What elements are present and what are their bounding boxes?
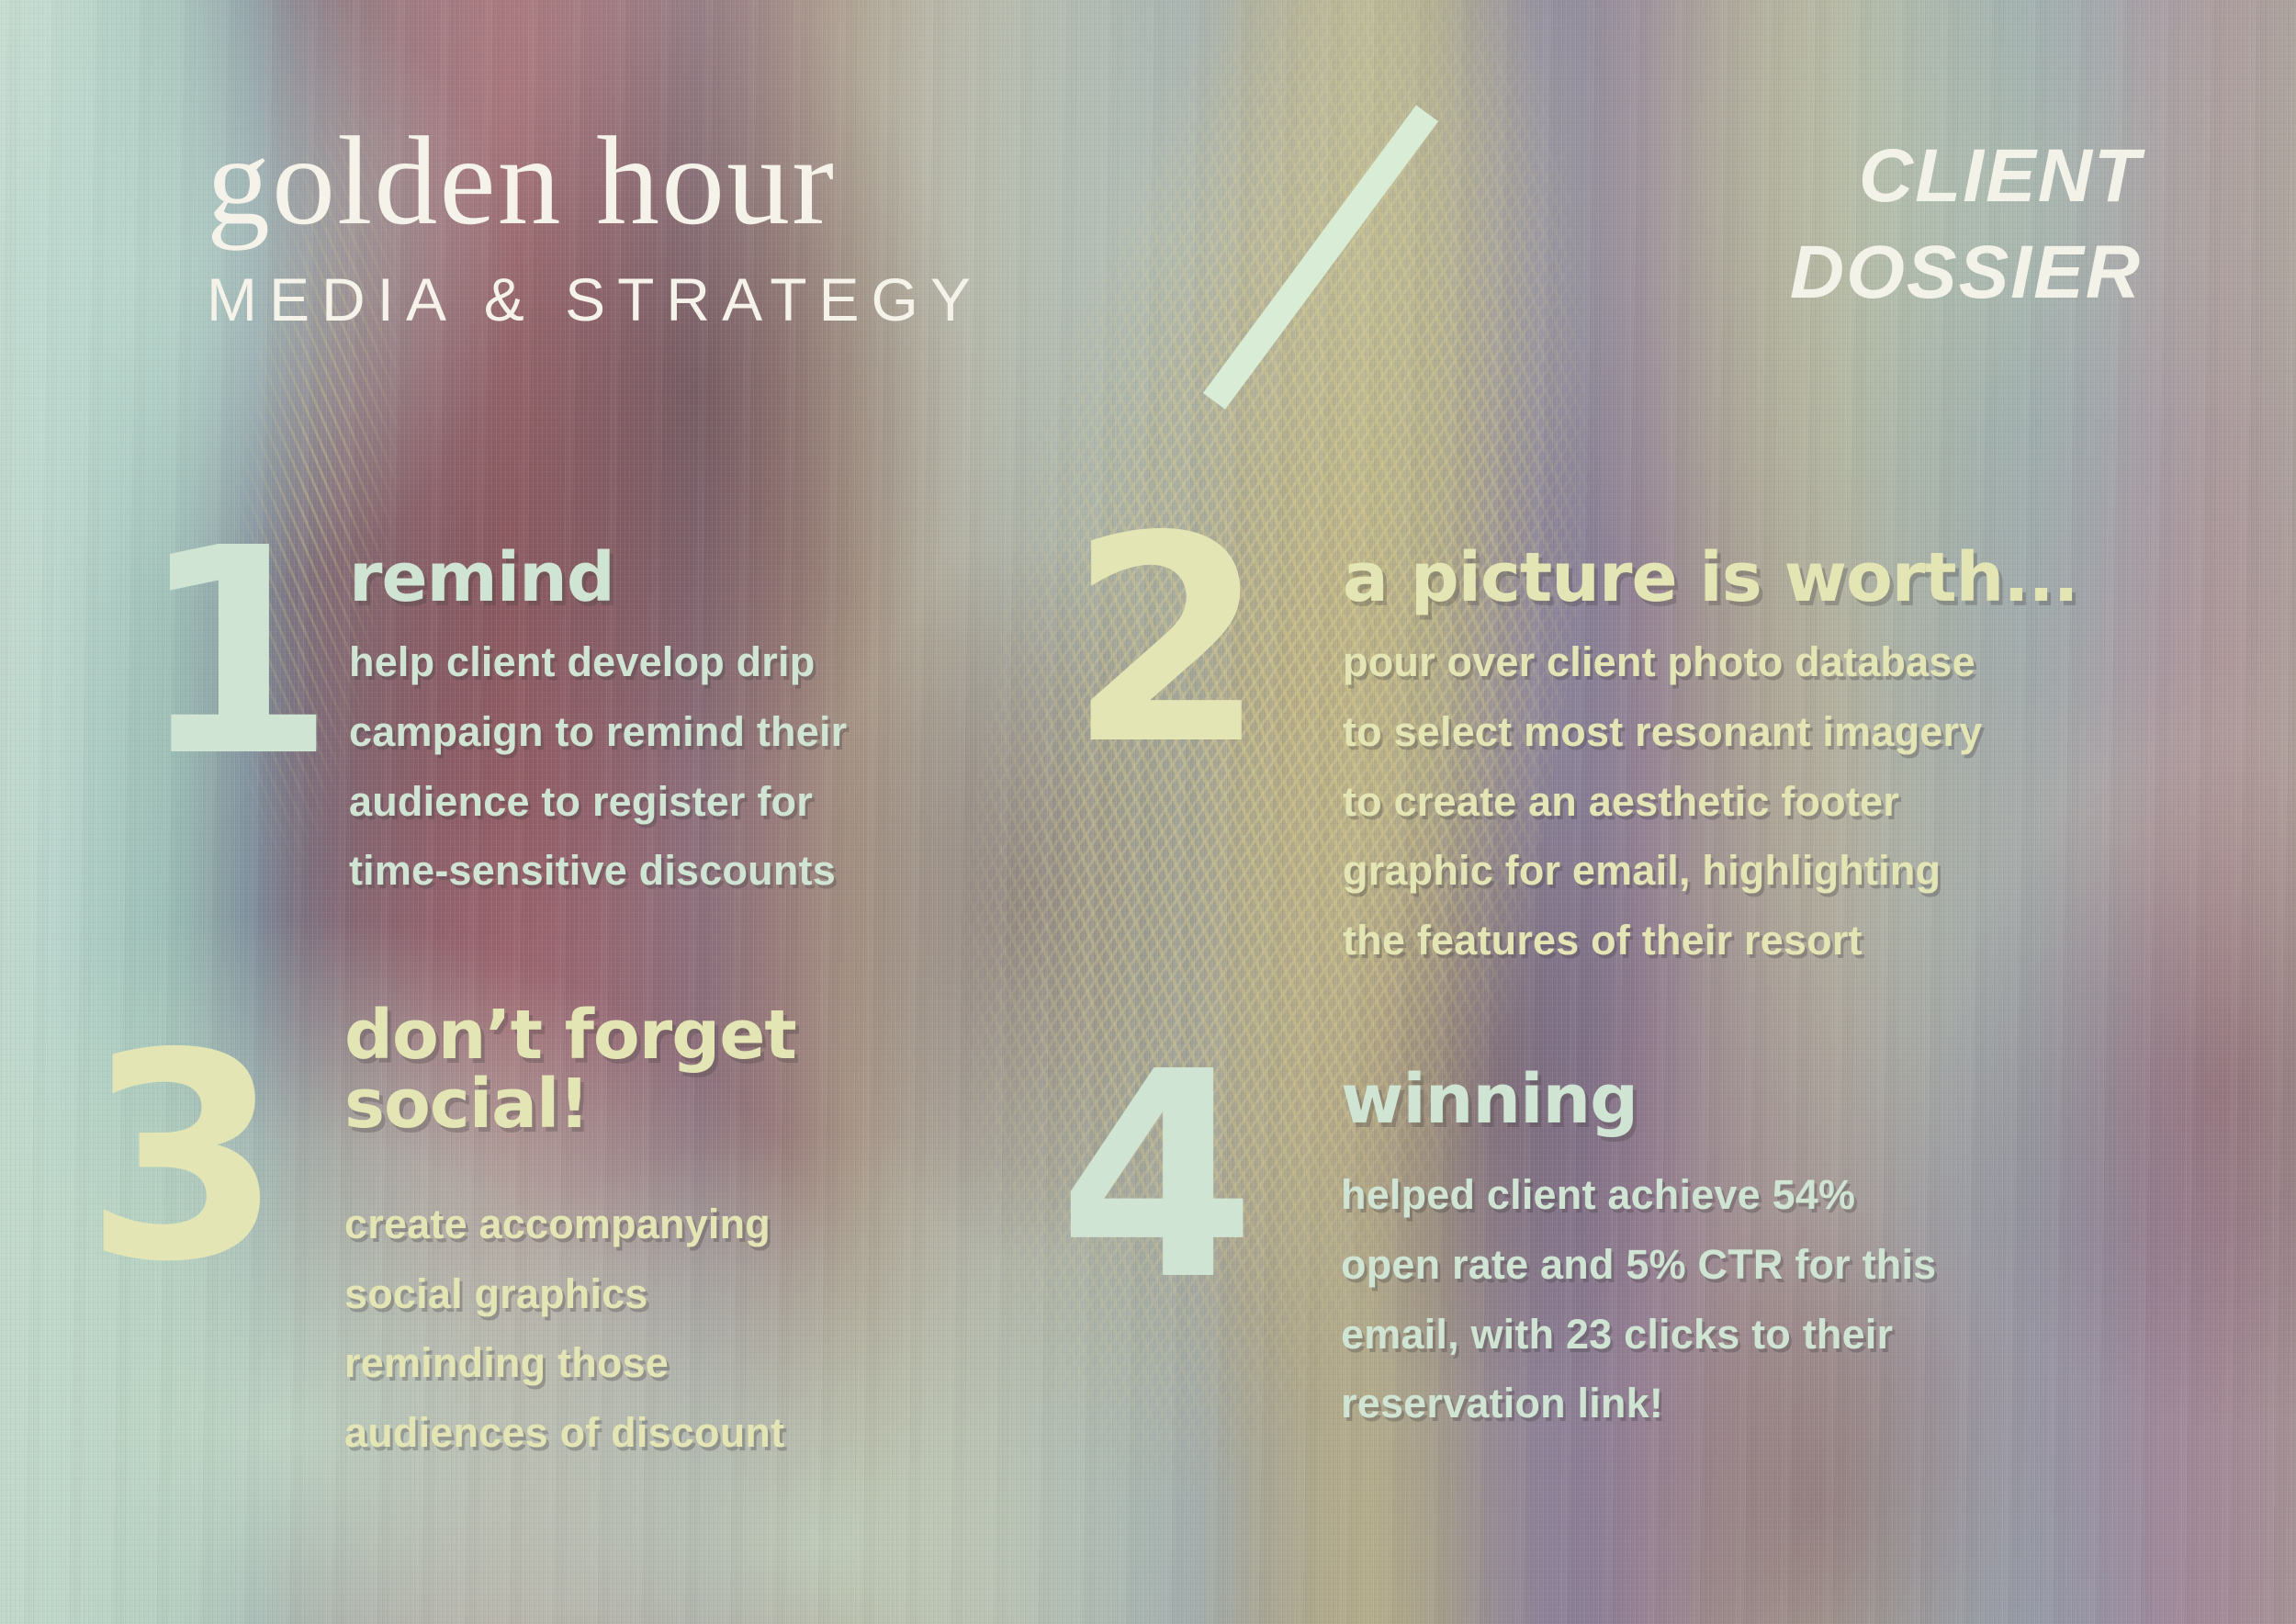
section-1-body: remind help client develop drip campaign… bbox=[349, 544, 847, 906]
section-2-number: 2 bbox=[1068, 525, 1263, 759]
section-2-line-4: graphic for email, highlighting bbox=[1343, 836, 2078, 906]
page-title-line-2: DOSSIER bbox=[1790, 225, 2142, 321]
section-4-line-2: open rate and 5% CTR for this bbox=[1341, 1230, 1936, 1300]
section-3-body: don’t forget social! create accompanying… bbox=[344, 1001, 796, 1467]
section-3-heading-line-1: don’t forget bbox=[344, 1001, 796, 1070]
section-2-line-3: to create an aesthetic footer bbox=[1343, 767, 2078, 837]
section-1-number: 1 bbox=[138, 537, 332, 771]
section-2-line-1: pour over client photo database bbox=[1343, 627, 2078, 697]
section-4-line-3: email, with 23 clicks to their bbox=[1341, 1300, 1936, 1370]
section-4-number: 4 bbox=[1058, 1061, 1253, 1294]
section-4-heading: winning bbox=[1341, 1066, 1936, 1134]
poster-content: golden hour MEDIA & STRATEGY CLIENT DOSS… bbox=[0, 0, 2296, 1624]
section-1-heading: remind bbox=[349, 544, 847, 613]
section-3-line-3: reminding those bbox=[344, 1328, 796, 1398]
diagonal-slash-icon bbox=[1203, 105, 1438, 409]
section-1-lines: help client develop drip campaign to rem… bbox=[349, 627, 847, 905]
section-1-line-1: help client develop drip bbox=[349, 627, 847, 697]
section-2-line-5: the features of their resort bbox=[1343, 906, 2078, 976]
section-1-line-4: time-sensitive discounts bbox=[349, 836, 847, 906]
section-3-line-4: audiences of discount bbox=[344, 1398, 796, 1468]
section-2-body: a picture is worth... pour over client p… bbox=[1343, 544, 2078, 975]
section-4-line-1: helped client achieve 54% bbox=[1341, 1160, 1936, 1230]
section-4-body: winning helped client achieve 54% open r… bbox=[1341, 1066, 1936, 1438]
section-2-lines: pour over client photo database to selec… bbox=[1343, 627, 2078, 975]
section-3-line-2: social graphics bbox=[344, 1259, 796, 1329]
section-3-line-1: create accompanying bbox=[344, 1190, 796, 1259]
section-3-heading-line-2: social! bbox=[344, 1070, 796, 1139]
section-3-lines: create accompanying social graphics remi… bbox=[344, 1190, 796, 1467]
section-2-line-2: to select most resonant imagery bbox=[1343, 697, 2078, 767]
brand-name: golden hour bbox=[207, 118, 1079, 244]
section-1-line-3: audience to register for bbox=[349, 767, 847, 837]
page-title: CLIENT DOSSIER bbox=[1790, 129, 2142, 321]
page-title-line-1: CLIENT bbox=[1790, 129, 2142, 225]
section-4-lines: helped client achieve 54% open rate and … bbox=[1341, 1160, 1936, 1438]
section-3-number: 3 bbox=[84, 1043, 279, 1276]
section-1-line-2: campaign to remind their bbox=[349, 697, 847, 767]
section-4-line-4: reservation link! bbox=[1341, 1369, 1936, 1438]
brand-logo: golden hour MEDIA & STRATEGY bbox=[207, 118, 1079, 334]
brand-tagline: MEDIA & STRATEGY bbox=[207, 265, 1079, 334]
poster-canvas: golden hour MEDIA & STRATEGY CLIENT DOSS… bbox=[0, 0, 2296, 1624]
section-2-heading: a picture is worth... bbox=[1343, 544, 2078, 613]
